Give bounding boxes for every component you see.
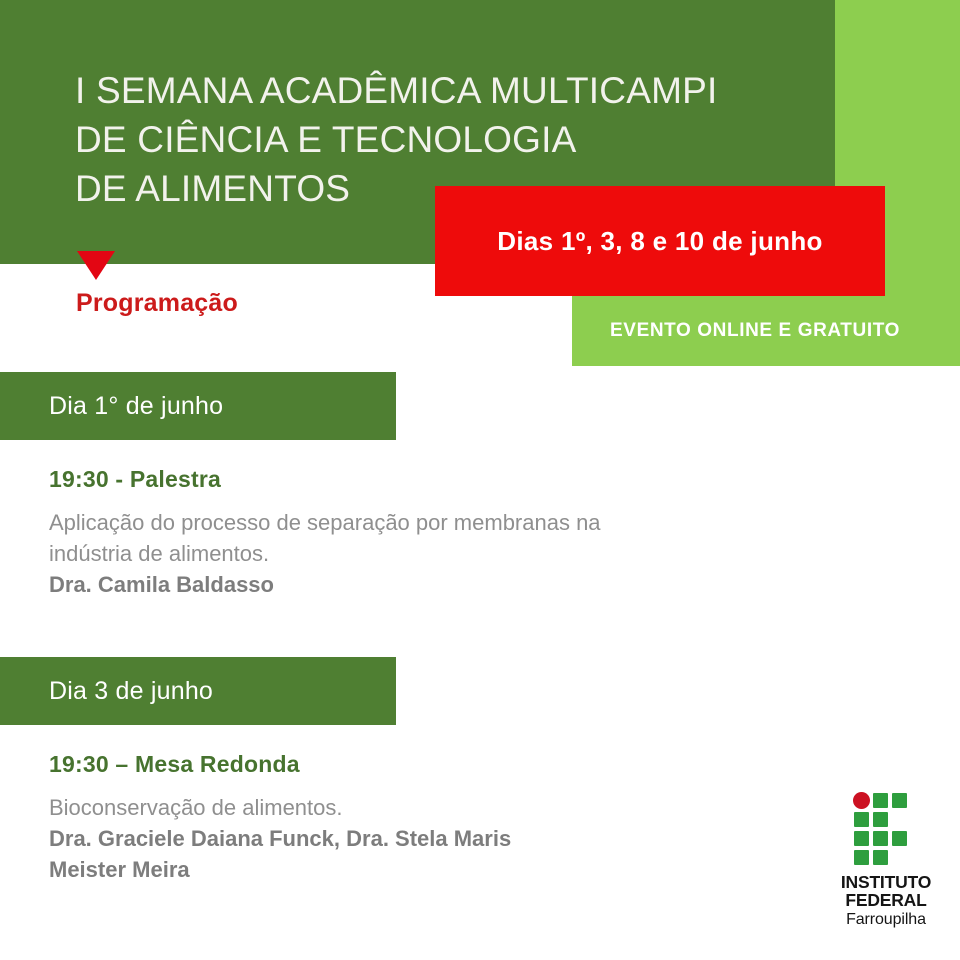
logo-cell-r2c2 [873, 812, 888, 827]
logo-institution-name: INSTITUTO FEDERAL [824, 873, 948, 909]
logo-campus-name: Farroupilha [824, 910, 948, 930]
instituto-federal-logo: INSTITUTO FEDERAL Farroupilha [824, 792, 948, 932]
logo-cell-r1c2 [873, 793, 888, 808]
session-2-description: Bioconservação de alimentos. [49, 792, 739, 823]
logo-cell-r4c2 [873, 850, 888, 865]
session-1-speakers: Dra. Camila Baldasso [49, 569, 739, 600]
online-free-badge: EVENTO ONLINE E GRATUITO [572, 296, 960, 366]
session-2-time-title: 19:30 – Mesa Redonda [49, 751, 809, 778]
day-band-2-label: Dia 3 de junho [49, 677, 213, 706]
session-2-speakers: Dra. Graciele Daiana Funck, Dra. Stela M… [49, 823, 739, 885]
day-band-1: Dia 1° de junho [0, 372, 396, 440]
event-poster: I SEMANA ACADÊMICA MULTICAMPI DE CIÊNCIA… [0, 0, 960, 960]
logo-cell-r3c1 [854, 831, 869, 846]
session-1-time-title: 19:30 - Palestra [49, 466, 809, 493]
logo-cell-r1c3 [892, 793, 907, 808]
day-band-2: Dia 3 de junho [0, 657, 396, 725]
day-band-1-label: Dia 1° de junho [49, 392, 223, 421]
logo-cell-r3c2 [873, 831, 888, 846]
instituto-federal-mark-icon [853, 792, 919, 864]
dates-badge: Dias 1º, 3, 8 e 10 de junho [435, 186, 885, 296]
session-1-description: Aplicação do processo de separação por m… [49, 507, 739, 569]
triangle-down-icon [77, 251, 115, 280]
dates-badge-label: Dias 1º, 3, 8 e 10 de junho [435, 186, 885, 296]
logo-cell-r4c1 [854, 850, 869, 865]
logo-red-dot-icon [853, 792, 870, 809]
session-2: 19:30 – Mesa Redonda Bioconservação de a… [49, 751, 809, 885]
session-1: 19:30 - Palestra Aplicação do processo d… [49, 466, 809, 600]
logo-cell-r3c3 [892, 831, 907, 846]
program-heading: Programação [76, 289, 238, 318]
logo-cell-r2c1 [854, 812, 869, 827]
